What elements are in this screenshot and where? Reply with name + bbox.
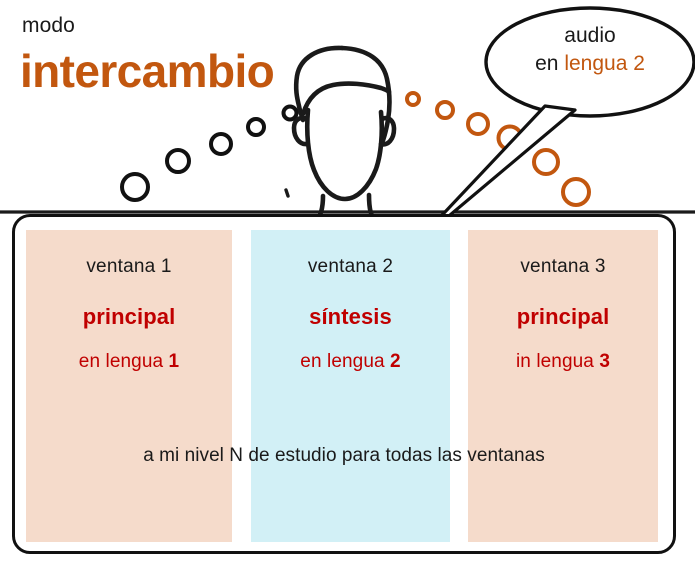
window-column-3-language: in lengua 3 bbox=[468, 351, 658, 373]
window-column-2-language-number: 2 bbox=[390, 351, 401, 372]
window-column-3-language-number: 3 bbox=[599, 351, 610, 372]
window-column-1-language-number: 1 bbox=[169, 351, 180, 372]
window-column-2-language-prefix: en lengua bbox=[300, 351, 390, 372]
panel-footer-note: a mi nivel N de estudio para todas las v… bbox=[12, 445, 676, 467]
page-title: intercambio bbox=[20, 44, 274, 98]
window-column-2-title: ventana 2 bbox=[251, 256, 450, 278]
speech-bubble-line-2-accent: lengua 2 bbox=[564, 52, 645, 75]
window-column-2-role: síntesis bbox=[251, 304, 450, 330]
speech-bubble-text: audio en lengua 2 bbox=[505, 22, 675, 77]
window-column-3-content: ventana 3 principal in lengua 3 bbox=[468, 256, 658, 373]
thought-bubbles-right-icon bbox=[407, 93, 589, 205]
window-column-3[interactable]: ventana 3 principal in lengua 3 bbox=[468, 230, 658, 542]
thought-bubbles-left-icon bbox=[122, 107, 297, 201]
speech-bubble-line-2: en lengua 2 bbox=[505, 50, 675, 78]
window-column-2[interactable]: ventana 2 síntesis en lengua 2 bbox=[251, 230, 450, 542]
window-column-3-language-prefix: in lengua bbox=[516, 351, 599, 372]
window-column-1-title: ventana 1 bbox=[26, 256, 232, 278]
window-column-1[interactable]: ventana 1 principal en lengua 1 bbox=[26, 230, 232, 542]
window-column-1-language-prefix: en lengua bbox=[79, 351, 169, 372]
speech-bubble-line-2-prefix: en bbox=[535, 52, 564, 75]
speech-bubble-line-1: audio bbox=[505, 22, 675, 50]
page-kicker: modo bbox=[22, 14, 75, 38]
diagram-canvas: modo intercambio bbox=[0, 0, 695, 571]
window-column-3-title: ventana 3 bbox=[468, 256, 658, 278]
window-column-2-content: ventana 2 síntesis en lengua 2 bbox=[251, 256, 450, 373]
window-column-1-content: ventana 1 principal en lengua 1 bbox=[26, 256, 232, 373]
window-column-1-language: en lengua 1 bbox=[26, 351, 232, 373]
window-column-2-language: en lengua 2 bbox=[251, 351, 450, 373]
window-column-1-role: principal bbox=[26, 304, 232, 330]
window-column-3-role: principal bbox=[468, 304, 658, 330]
